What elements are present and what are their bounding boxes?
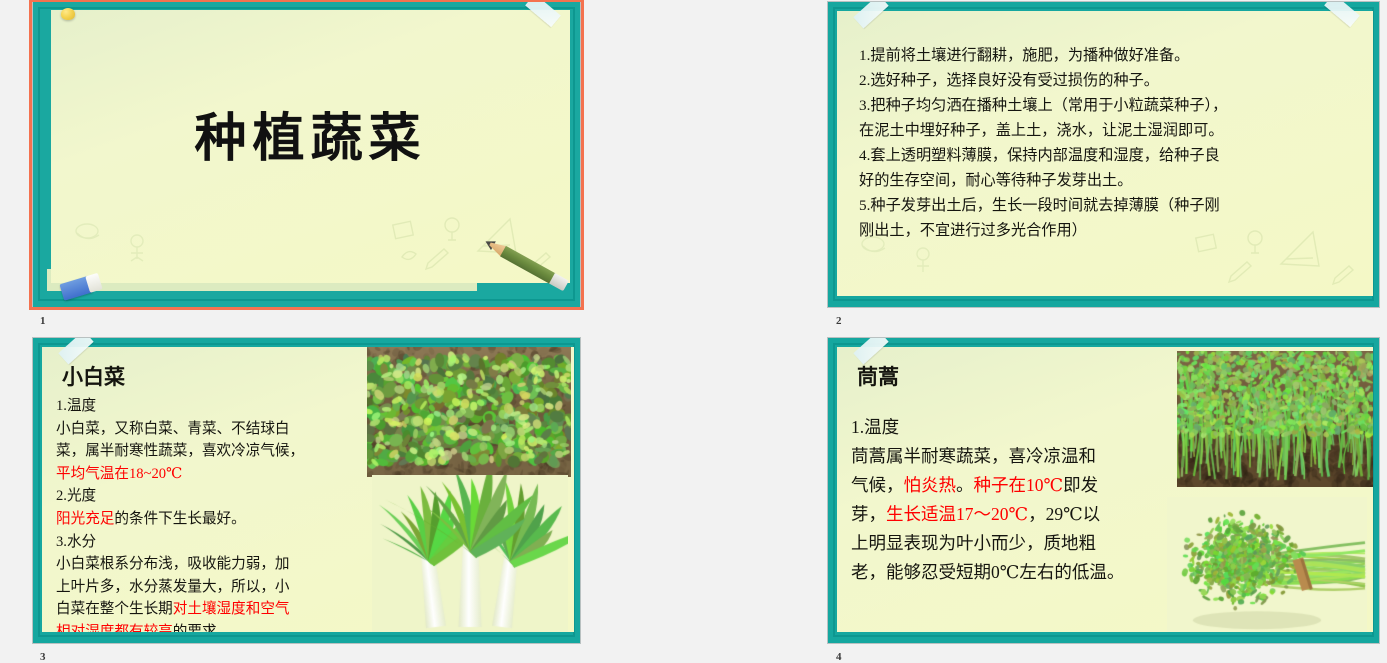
- slide-paper-2: 1.提前将土壤进行翻耕，施肥，为播种做好准备。 2.选好种子，选择良好没有受过损…: [837, 11, 1373, 296]
- slide-thumbnail-2[interactable]: 1.提前将土壤进行翻耕，施肥，为播种做好准备。 2.选好种子，选择良好没有受过损…: [828, 2, 1379, 307]
- slide-board-1: 种植蔬菜: [33, 2, 580, 307]
- pushpin-icon: [61, 8, 75, 23]
- vegetable-title-3: 小白菜: [62, 361, 125, 391]
- slide-board-3: 小白菜 1.温度 小白菜，又称白菜、青菜、不结球白 菜，属半耐寒性蔬菜，喜欢冷凉…: [33, 338, 580, 643]
- slide-number-4: 4: [836, 651, 842, 663]
- vegetable-title-4: 茼蒿: [857, 361, 899, 391]
- crown-daisy-field-photo: [1177, 351, 1373, 487]
- slide-number-3: 3: [40, 651, 46, 663]
- slide-board-4: 茼蒿 1.温度 茼蒿属半耐寒蔬菜，喜冷凉温和 气候，怕炎热。种子在10℃即发 芽…: [828, 338, 1379, 643]
- slide-thumbnail-grid: 种植蔬菜 1: [0, 0, 1387, 660]
- bok-choy-field-photo: [367, 347, 571, 477]
- slide-number-2: 2: [836, 315, 842, 327]
- slide-title-1: 种植蔬菜: [51, 96, 570, 171]
- slide-board-2: 1.提前将土壤进行翻耕，施肥，为播种做好准备。 2.选好种子，选择良好没有受过损…: [828, 2, 1379, 307]
- crown-daisy-bunch-photo: [1167, 497, 1367, 632]
- slide-number-1: 1: [40, 315, 46, 327]
- slide-thumbnail-4[interactable]: 茼蒿 1.温度 茼蒿属半耐寒蔬菜，喜冷凉温和 气候，怕炎热。种子在10℃即发 芽…: [828, 338, 1379, 643]
- slide-thumbnail-3[interactable]: 小白菜 1.温度 小白菜，又称白菜、青菜、不结球白 菜，属半耐寒性蔬菜，喜欢冷凉…: [33, 338, 580, 643]
- vegetable-body-4: 1.温度 茼蒿属半耐寒蔬菜，喜冷凉温和 气候，怕炎热。种子在10℃即发 芽，生长…: [851, 413, 1176, 587]
- bok-choy-bunch-photo: [372, 475, 568, 632]
- vegetable-body-3: 1.温度 小白菜，又称白菜、青菜、不结球白 菜，属半耐寒性蔬菜，喜欢冷凉气候， …: [56, 395, 366, 632]
- slide-body-2: 1.提前将土壤进行翻耕，施肥，为播种做好准备。 2.选好种子，选择良好没有受过损…: [859, 43, 1359, 243]
- doodle-watermark-left-icon: [65, 217, 185, 277]
- slide-paper-4: 茼蒿 1.温度 茼蒿属半耐寒蔬菜，喜冷凉温和 气候，怕炎热。种子在10℃即发 芽…: [837, 347, 1373, 632]
- slide-thumbnail-1[interactable]: 种植蔬菜: [33, 2, 580, 307]
- slide-paper-3: 小白菜 1.温度 小白菜，又称白菜、青菜、不结球白 菜，属半耐寒性蔬菜，喜欢冷凉…: [42, 347, 574, 632]
